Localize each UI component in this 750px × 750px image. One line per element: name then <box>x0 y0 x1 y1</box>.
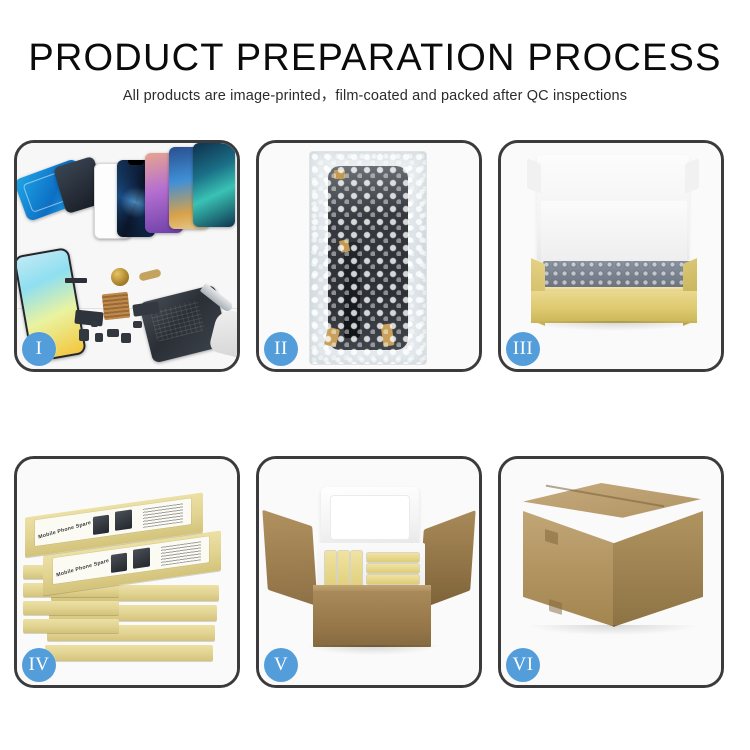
stacked-box <box>23 619 119 633</box>
small-part-icon <box>79 329 89 341</box>
screen-thumbnail <box>111 553 127 573</box>
gold-connector-icon <box>138 268 161 281</box>
small-part-icon <box>107 329 119 337</box>
process-step-panel-4[interactable]: Mobile Phone Spare Parts Mobile Phone Sp… <box>14 456 240 688</box>
small-part-icon <box>133 321 142 328</box>
bubble-wrap-bag <box>309 151 427 365</box>
step-badge-4: IV <box>22 648 56 682</box>
process-step-panel-5[interactable]: V <box>256 456 482 688</box>
flex-cable-icon <box>74 310 103 327</box>
screen-thumbnail <box>133 547 150 568</box>
circuit-board-icon <box>102 292 131 321</box>
product-preparation-process-page: PRODUCT PREPARATION PROCESS All products… <box>0 0 750 750</box>
process-step-panel-1[interactable]: I <box>14 140 240 372</box>
small-part-icon <box>121 333 131 343</box>
drop-shadow <box>525 321 705 331</box>
drop-shadow <box>529 625 697 635</box>
teal-phone-icon <box>193 143 235 227</box>
step-badge-1: I <box>22 332 56 366</box>
carton-front-face <box>313 591 431 647</box>
process-step-panel-6[interactable]: VI <box>498 456 724 688</box>
box-front-face <box>531 291 697 323</box>
carton-flap-left <box>262 510 317 607</box>
carton-left-face <box>523 511 615 627</box>
process-steps-grid: I II <box>14 140 736 688</box>
screen-thumbnail <box>93 515 109 535</box>
foam-padding <box>541 201 687 267</box>
step-badge-5: V <box>264 648 298 682</box>
speaker-bar-icon <box>65 278 87 283</box>
page-title: PRODUCT PREPARATION PROCESS <box>0 36 750 80</box>
process-step-panel-3[interactable]: III <box>498 140 724 372</box>
screen-thumbnail <box>115 509 132 530</box>
stacked-box <box>23 601 119 615</box>
drop-shadow <box>307 645 439 655</box>
camera-lens-icon <box>111 268 129 286</box>
bubble-texture <box>310 152 426 364</box>
header: PRODUCT PREPARATION PROCESS All products… <box>0 36 750 106</box>
spec-lines <box>143 503 183 528</box>
small-part-icon <box>91 321 98 327</box>
step-badge-6: VI <box>506 648 540 682</box>
process-step-panel-2[interactable]: II <box>256 140 482 372</box>
small-part-icon <box>95 333 103 342</box>
step-badge-2: II <box>264 332 298 366</box>
page-subtitle: All products are image-printed，film-coat… <box>0 86 750 106</box>
step-badge-3: III <box>506 332 540 366</box>
yellow-box-item <box>367 564 419 573</box>
carton-right-face <box>613 511 703 627</box>
foam-box-lid <box>321 487 419 549</box>
spec-lines <box>161 541 201 566</box>
yellow-box-item <box>367 553 419 562</box>
yellow-box-item <box>367 575 419 584</box>
stacked-box <box>45 645 213 661</box>
tape-patch <box>549 599 562 615</box>
